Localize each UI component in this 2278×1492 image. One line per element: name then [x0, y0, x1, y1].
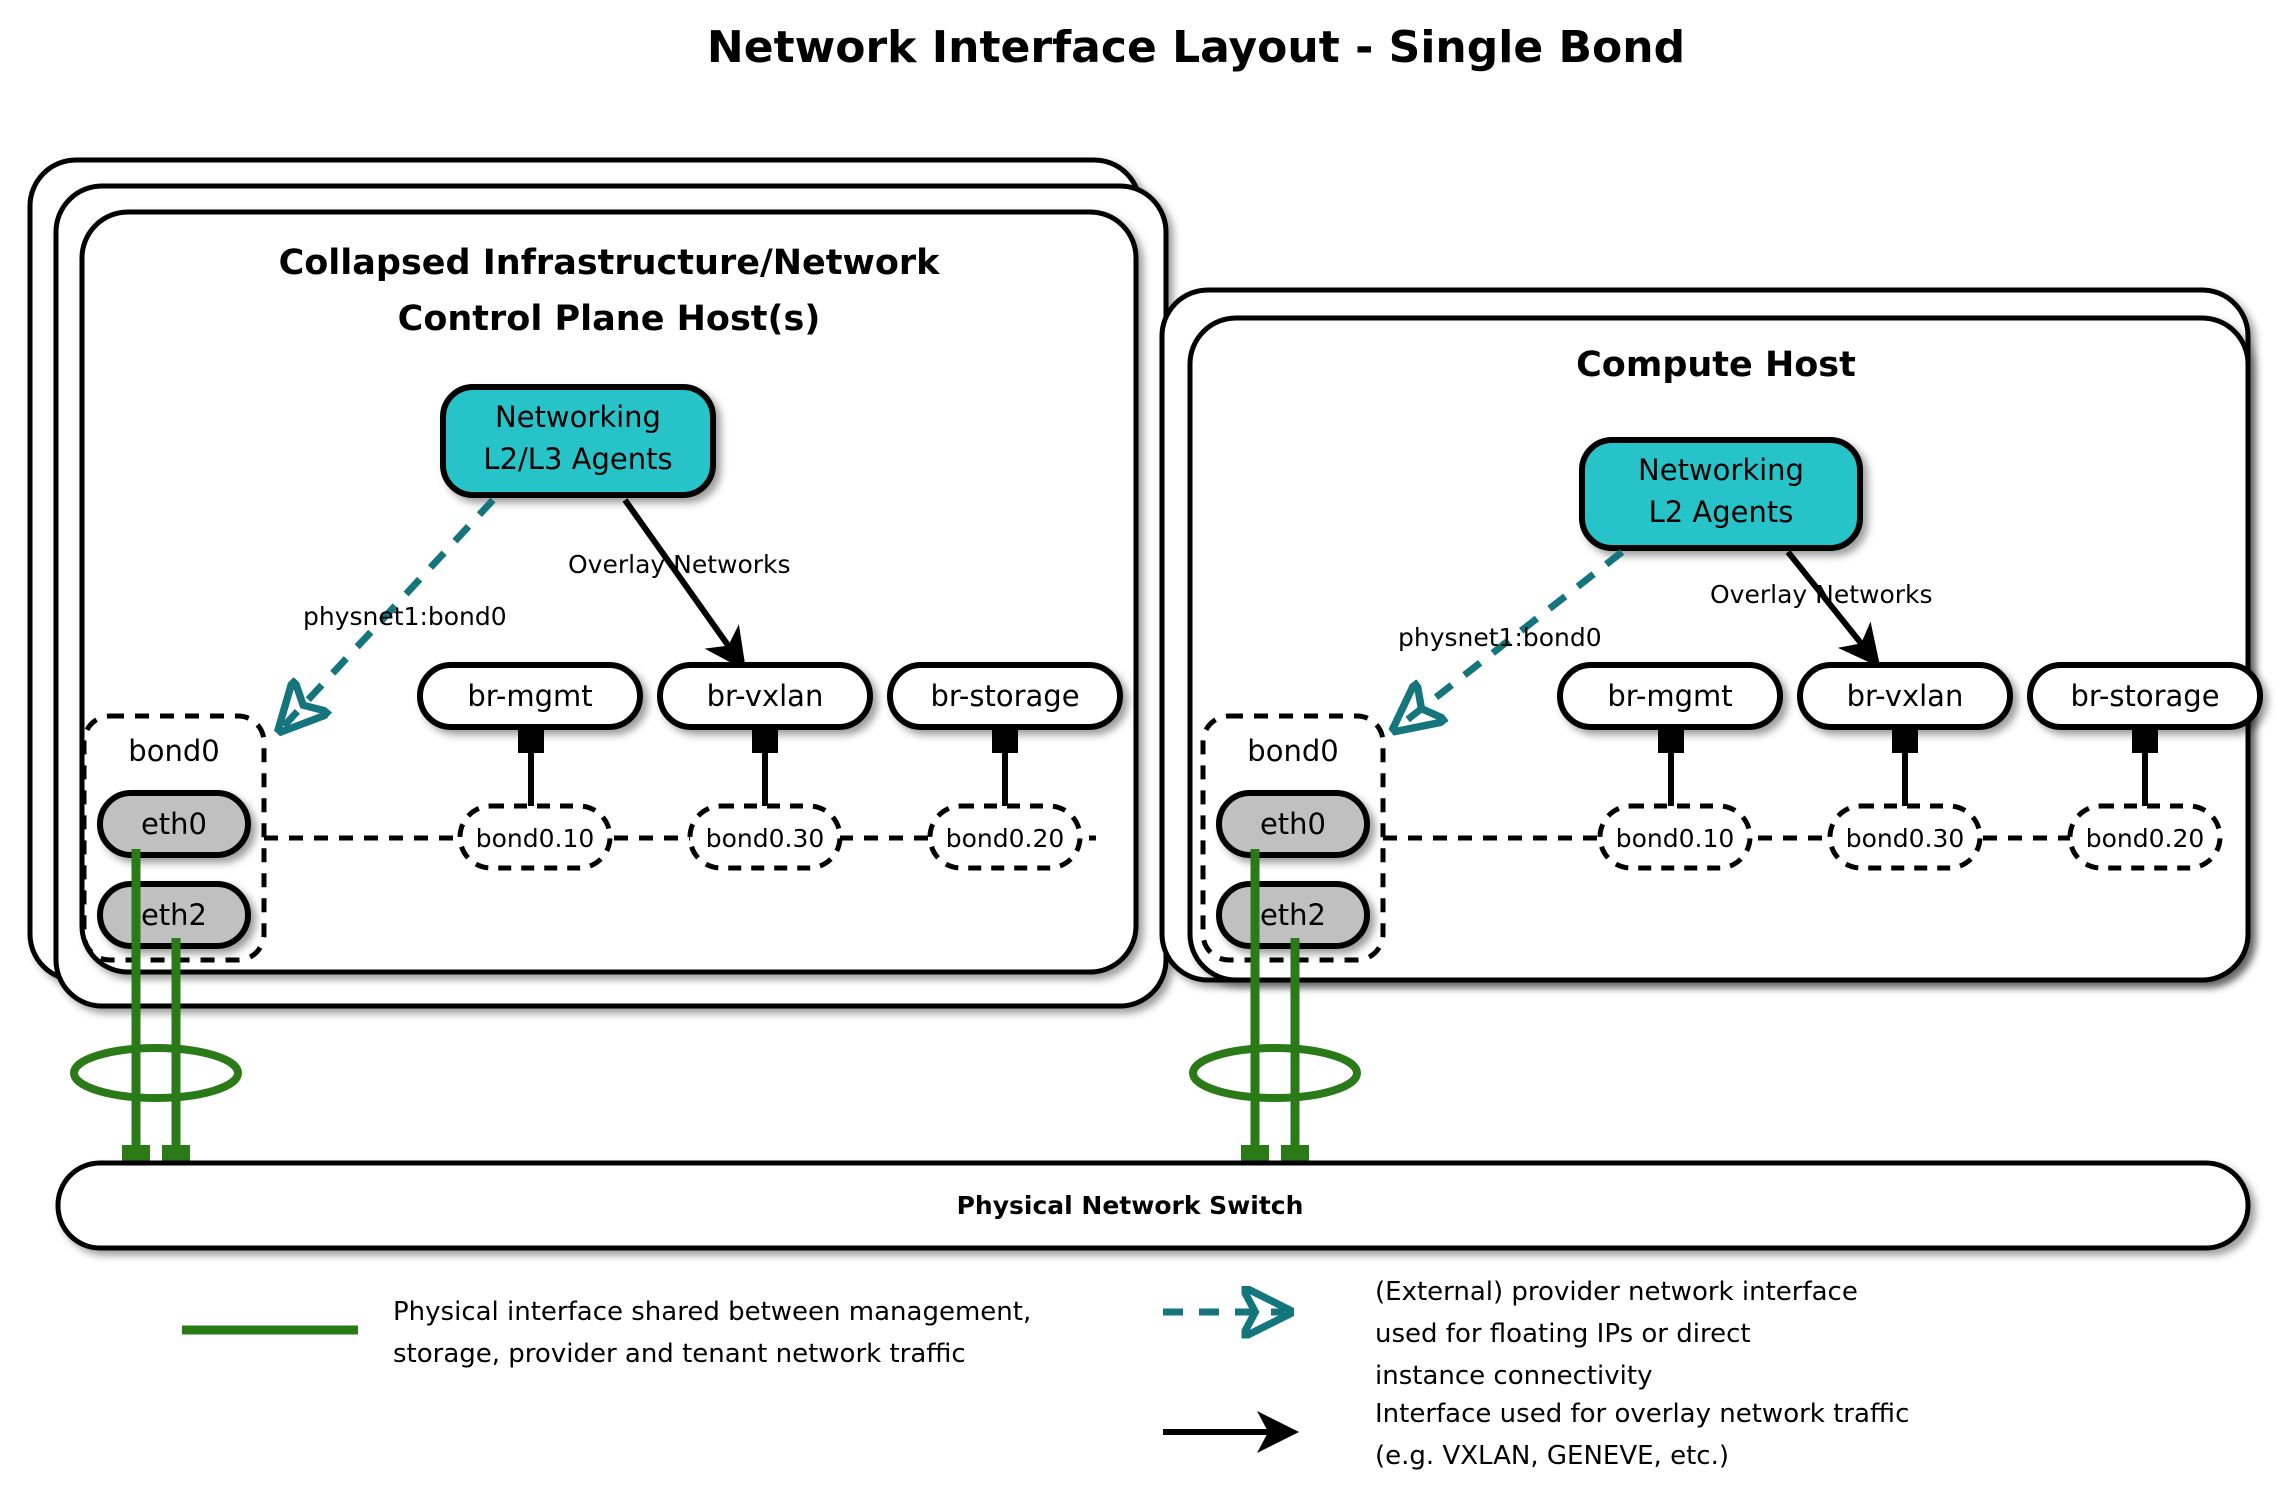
- legend-overlay-line1: Interface used for overlay network traff…: [1375, 1399, 1909, 1429]
- compute-eth2-label: eth2: [1260, 898, 1326, 932]
- compute-host-title: Compute Host: [1576, 345, 1856, 385]
- overlay-edge-label: Overlay Networks: [568, 550, 791, 579]
- legend-physical-line2: storage, provider and tenant network tra…: [393, 1339, 966, 1369]
- provider-edge-label: physnet1:bond0: [303, 602, 507, 631]
- vlan-bond0-30-label: bond0.30: [706, 824, 825, 853]
- compute-bond-grouping-ellipse: [1193, 1048, 1357, 1098]
- bond0-label: bond0: [128, 734, 219, 768]
- legend-overlay-line2: (e.g. VXLAN, GENEVE, etc.): [1375, 1441, 1729, 1471]
- legend-provider-line1: (External) provider network interface: [1375, 1277, 1858, 1307]
- bridge-br-storage-label: br-storage: [930, 679, 1079, 713]
- bridge-br-mgmt-label: br-mgmt: [467, 679, 592, 713]
- compute-provider-edge-label: physnet1:bond0: [1398, 623, 1602, 652]
- compute-shell-front: [1190, 318, 2248, 980]
- bridge-br-vxlan-label: br-vxlan: [707, 679, 824, 713]
- vlan-bond0-10-label: bond0.10: [476, 824, 595, 853]
- legend-provider-line3: instance connectivity: [1375, 1361, 1652, 1391]
- compute-vlan-bond0-20-label: bond0.20: [2086, 824, 2205, 853]
- eth2-label: eth2: [141, 898, 207, 932]
- vlan-bond0-20-label: bond0.20: [946, 824, 1065, 853]
- eth0-label: eth0: [141, 807, 207, 841]
- host-compute: Compute Host Networking L2 Agents physne…: [1162, 290, 2260, 1187]
- compute-vlan-bond0-30-label: bond0.30: [1846, 824, 1965, 853]
- compute-bridge-br-mgmt-label: br-mgmt: [1607, 679, 1732, 713]
- host-control-plane: Collapsed Infrastructure/Network Control…: [30, 160, 1166, 1187]
- bond-grouping-ellipse: [74, 1048, 238, 1098]
- agents-label-line1: Networking: [495, 400, 661, 434]
- compute-vlan-bond0-10-label: bond0.10: [1616, 824, 1735, 853]
- compute-bridge-br-storage-label: br-storage: [2070, 679, 2219, 713]
- compute-agents-label-line1: Networking: [1638, 453, 1804, 487]
- network-diagram: Network Interface Layout - Single Bond C…: [0, 0, 2278, 1492]
- compute-overlay-edge-label: Overlay Networks: [1710, 580, 1933, 609]
- page-title: Network Interface Layout - Single Bond: [707, 22, 1685, 73]
- legend-physical-line1: Physical interface shared between manage…: [393, 1297, 1031, 1327]
- legend-item-provider-interface: (External) provider network interface us…: [1163, 1277, 1858, 1391]
- agents-label-line2: L2/L3 Agents: [483, 442, 672, 476]
- compute-bond0-label: bond0: [1247, 734, 1338, 768]
- diagram-canvas: Network Interface Layout - Single Bond C…: [0, 0, 2278, 1492]
- legend-item-overlay-interface: Interface used for overlay network traff…: [1163, 1399, 1909, 1471]
- legend-item-physical-interface: Physical interface shared between manage…: [182, 1297, 1031, 1369]
- legend-provider-line2: used for floating IPs or direct: [1375, 1319, 1751, 1349]
- host-title-line2: Control Plane Host(s): [398, 299, 821, 339]
- host-title-line1: Collapsed Infrastructure/Network: [279, 243, 941, 283]
- compute-agents-label-line2: L2 Agents: [1649, 495, 1794, 529]
- compute-eth0-label: eth0: [1260, 807, 1326, 841]
- physical-network-switch[interactable]: Physical Network Switch: [58, 1163, 2248, 1248]
- compute-bridge-br-vxlan-label: br-vxlan: [1847, 679, 1964, 713]
- legend: Physical interface shared between manage…: [182, 1277, 1909, 1471]
- switch-label: Physical Network Switch: [957, 1191, 1304, 1220]
